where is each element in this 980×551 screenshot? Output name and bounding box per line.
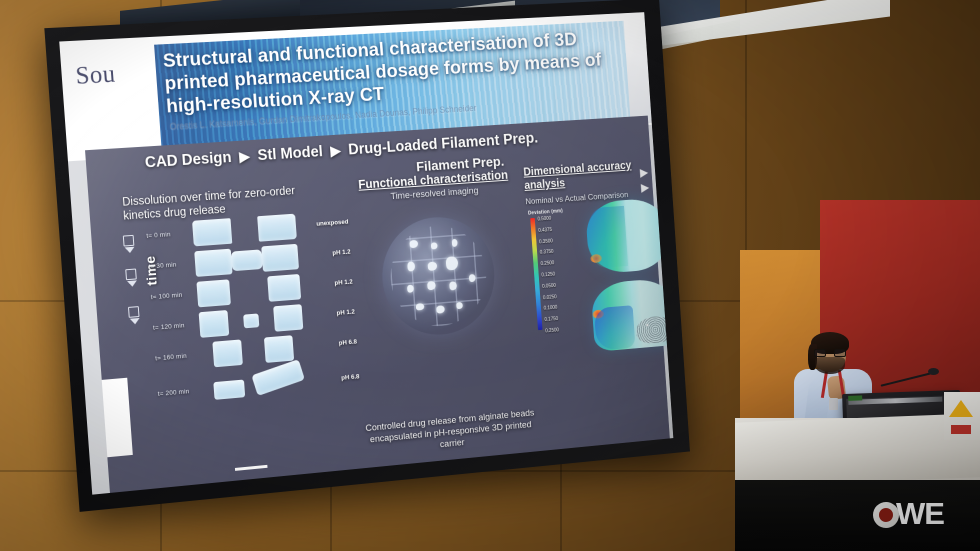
row-time-label: t= 200 min (158, 388, 190, 398)
row-ph-label: pH 1.2 (336, 309, 355, 317)
deviation-model-side-view (590, 277, 673, 352)
colorbar-tick: 0.4375 (538, 225, 552, 237)
slide-left-white-block (102, 378, 133, 458)
monitor-status-badge (848, 395, 862, 400)
presenter-beard (815, 357, 845, 374)
venue-logo-mark (873, 502, 899, 528)
microphone-stand (880, 352, 938, 392)
dissolution-series: t= 0 min unexposed t= 30 min (145, 208, 360, 411)
wall-sign-triangle (949, 400, 973, 417)
row-ph-label: pH 6.8 (339, 339, 358, 347)
row-ph-label: pH 1.2 (334, 279, 353, 287)
time-tick-icon (128, 306, 143, 325)
center-panel-caption: Controlled drug release from alginate be… (363, 407, 539, 458)
venue-logo: WE (873, 496, 944, 532)
right-panel: Dimensional accuracy analysis Nominal vs… (523, 160, 657, 446)
scale-bar (235, 465, 268, 471)
row-time-label: t= 160 min (155, 353, 187, 363)
deviation-colorbar: Deviation (mm) 0.5000 0.4375 0.3500 0.37… (528, 207, 589, 287)
ct-carrier-image (378, 213, 498, 339)
row-time-label: t= 30 min (148, 262, 176, 271)
row-ph-label: pH 1.2 (332, 249, 351, 257)
row-ph-label: pH 6.8 (341, 373, 360, 381)
workflow-step-cad: CAD Design (144, 149, 232, 171)
colorbar-tick: 0.0500 (542, 281, 556, 293)
deviation-hotspot (590, 254, 602, 263)
workflow-step-filament: Drug-Loaded Filament Prep. (348, 130, 539, 158)
slide: Sou Structural and functional characteri… (59, 12, 673, 494)
presenter-lanyard (822, 370, 844, 404)
deviation-hotspot (592, 309, 604, 318)
wall-sign-bar (951, 425, 971, 434)
surface-texture-render (635, 315, 673, 344)
wall-sign (944, 392, 980, 440)
colorbar-tick: 0.2500 (545, 326, 559, 338)
colorbar-tick: 0.1250 (541, 270, 555, 282)
deviation-model-top-view (585, 197, 671, 274)
microphone-head (928, 368, 939, 375)
arrow-right-icon: ▶ (640, 165, 649, 181)
row-time-label: t= 100 min (151, 292, 183, 301)
venue-logo-text: WE (896, 496, 944, 531)
microphone-rod (881, 371, 936, 386)
row-ph-label: unexposed (316, 219, 349, 228)
university-logo: Sou (75, 58, 166, 107)
workflow-step-stl: Stl Model (257, 143, 323, 164)
glasses-icon (814, 349, 846, 357)
slide-body: CAD Design ▶ Stl Model ▶ Drug-Loaded Fil… (85, 116, 670, 493)
center-panel: Functional characterisation Time-resolve… (345, 167, 538, 462)
arrow-right-icon: ▶ (641, 180, 650, 196)
left-panel: Dissolution over time for zero-order kin… (122, 181, 364, 484)
time-tick-icon (123, 235, 138, 254)
arrow-right-icon: ▶ (330, 142, 341, 158)
colorbar-tick: 0.5000 (537, 214, 551, 226)
slide-edge-arrows: ▶ ▶ (640, 165, 650, 196)
time-tick-icon (125, 268, 140, 287)
right-panel-title: Dimensional accuracy analysis (523, 160, 640, 194)
arrow-right-icon: ▶ (239, 148, 250, 164)
row-time-label: t= 0 min (146, 231, 171, 240)
row-time-label: t= 120 min (153, 322, 185, 331)
presentation-screen-frame: Sou Structural and functional characteri… (44, 0, 690, 512)
presentation-screen-surface: Sou Structural and functional characteri… (59, 12, 673, 494)
presenter-badge (829, 398, 838, 410)
